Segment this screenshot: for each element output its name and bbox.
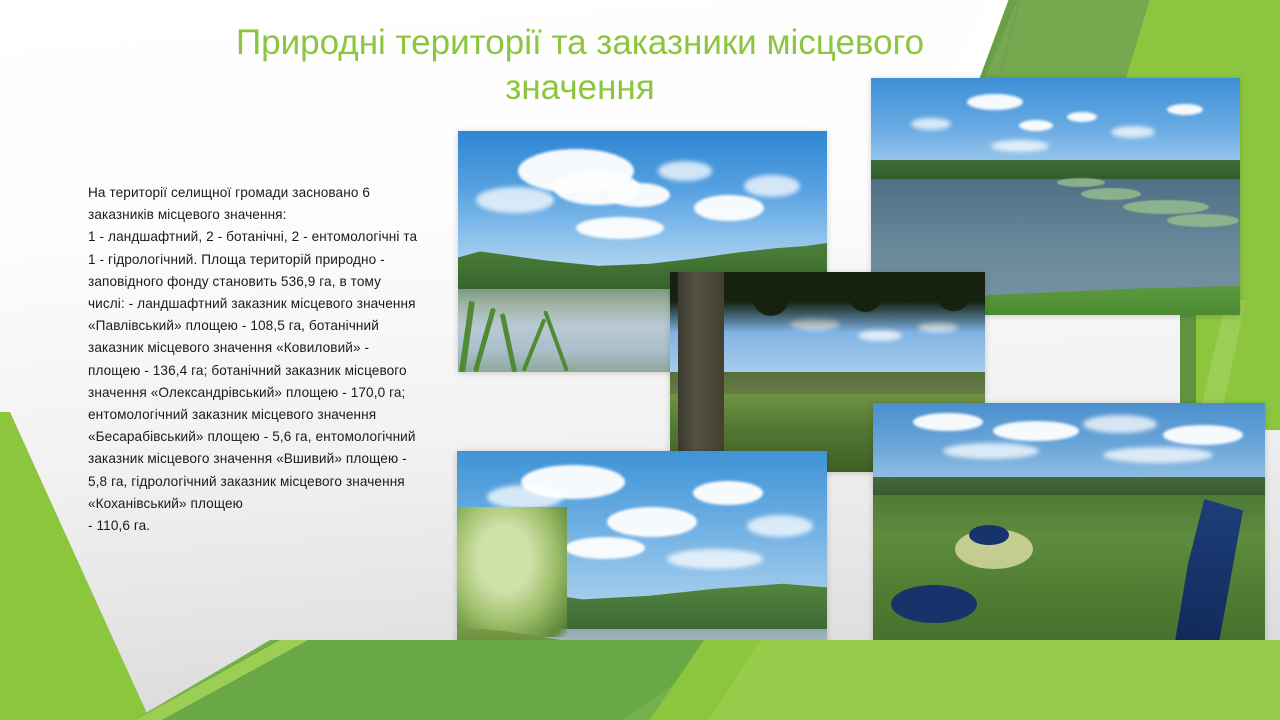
cloud — [1167, 104, 1203, 115]
decor-hairline-top-right — [996, 0, 1020, 88]
cloud — [993, 421, 1079, 441]
lilypads — [1081, 188, 1141, 200]
lilypads — [1123, 200, 1209, 214]
cloud — [694, 195, 764, 221]
cloud — [608, 183, 670, 207]
photo-lake-with-willow — [457, 451, 827, 689]
body-paragraph-1: На території селищної громади засновано … — [88, 182, 418, 226]
cloud — [943, 443, 1039, 459]
cloud — [744, 175, 800, 197]
cloud — [1111, 126, 1155, 138]
photo-aerial-river-valley — [873, 403, 1265, 642]
pond — [969, 525, 1009, 545]
cloud — [487, 485, 563, 509]
decor-band-top-right-bright — [1123, 0, 1280, 88]
cloud — [607, 507, 697, 537]
lilypads — [1167, 214, 1239, 227]
pond — [891, 585, 977, 623]
cloud — [693, 481, 763, 505]
cloud — [576, 217, 664, 239]
slide-canvas: Природні території та заказники місцевог… — [0, 0, 1280, 720]
cloud — [1067, 112, 1097, 122]
photo4-willow-tree — [457, 507, 567, 637]
body-paragraph-3: - 110,6 га. — [88, 515, 418, 537]
cloud — [747, 515, 813, 537]
cloud — [1163, 425, 1243, 445]
cloud — [667, 549, 763, 569]
lilypads — [1057, 178, 1105, 187]
cloud — [1083, 415, 1157, 433]
decor-band-top-right-mid — [975, 0, 1275, 88]
cloud — [658, 161, 712, 181]
photo3-tree-trunk — [678, 272, 724, 472]
body-text-block: На території селищної громади засновано … — [88, 182, 418, 537]
cloud — [565, 537, 645, 559]
cloud — [1103, 447, 1213, 463]
page-title: Природні території та заказники місцевог… — [175, 20, 985, 110]
decor-band-top-right-dark — [958, 0, 1280, 86]
cloud — [1019, 120, 1053, 131]
cloud — [991, 140, 1049, 152]
body-paragraph-2: 1 - ландшафтний, 2 - ботанічні, 2 - енто… — [88, 226, 418, 515]
cloud — [476, 187, 554, 213]
cloud — [913, 413, 983, 431]
cloud — [911, 118, 951, 130]
